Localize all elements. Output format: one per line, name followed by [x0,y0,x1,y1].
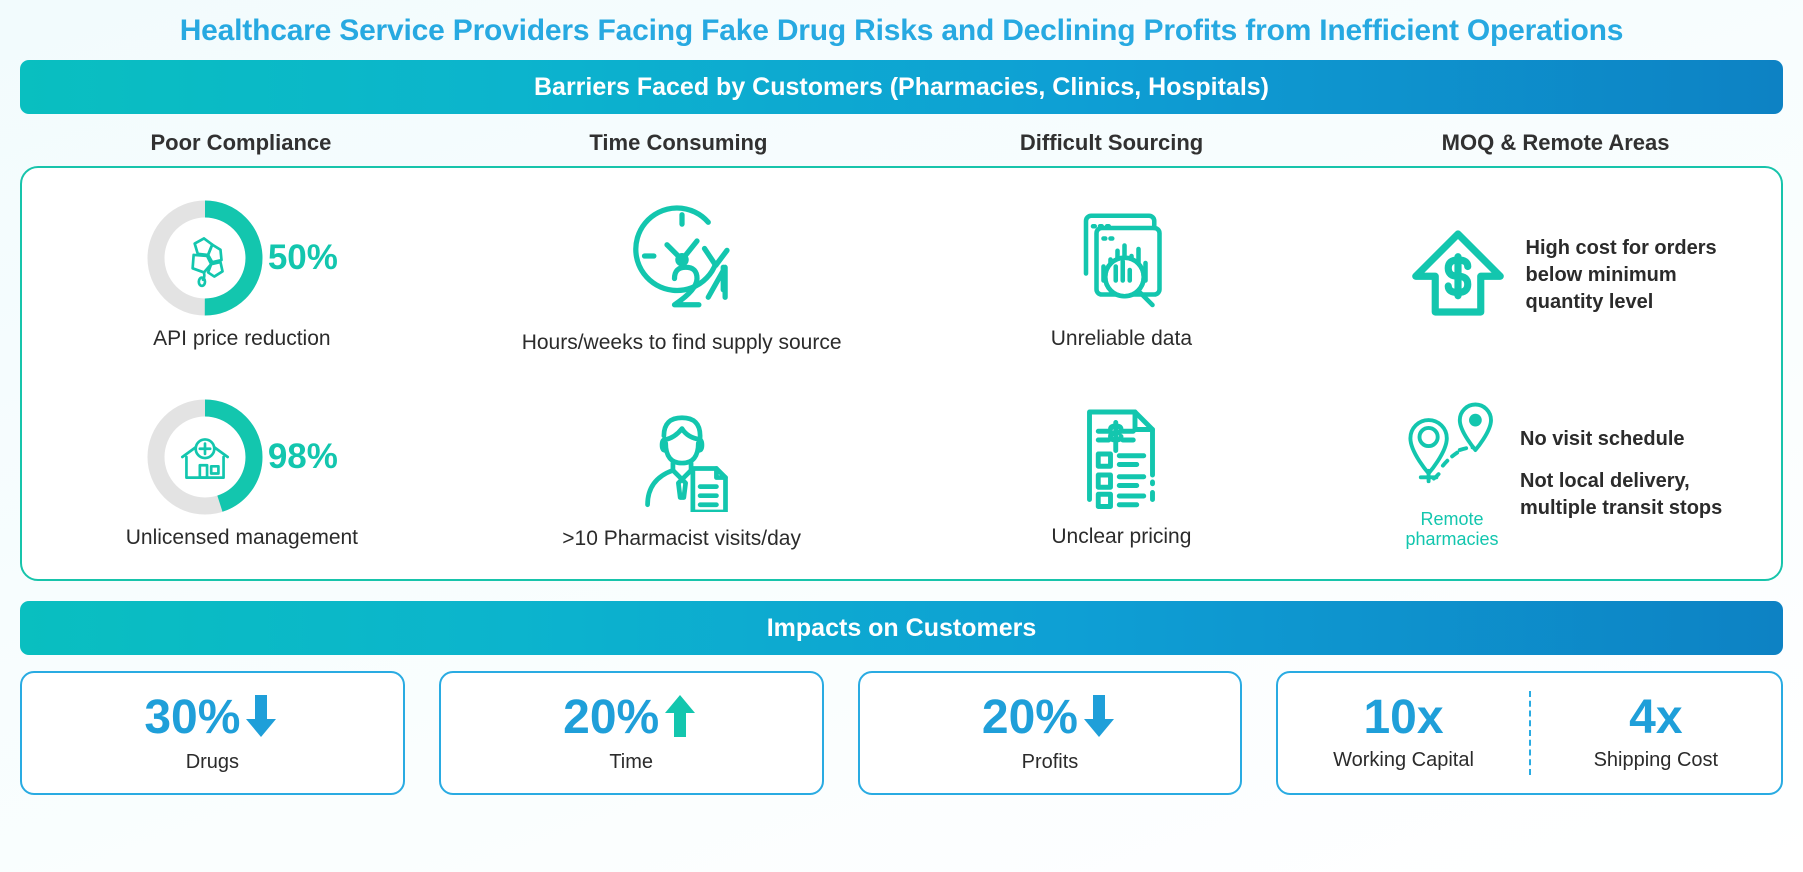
impact-subitem-working-capital: 10x Working Capital [1278,694,1528,772]
column-header-poor-compliance: Poor Compliance [20,130,462,156]
impact-value-shipping-cost: 4x [1629,694,1682,742]
data-chart-search-icon [1065,200,1177,317]
remote-pharmacies-label-line1: Remote [1405,509,1498,530]
impact-cards-row: 30% Drugs 20% Time 20% [20,671,1783,795]
impact-value-profits: 20% [982,694,1078,742]
barriers-panel: 50% API price reduction [20,166,1783,581]
impact-subitem-shipping-cost: 4x Shipping Cost [1531,694,1781,772]
barrier-item-remote-delivery: Remote pharmacies No visit schedule Not … [1341,375,1781,574]
donut-percent-98: 98% [268,437,338,477]
impact-label-profits: Profits [1022,751,1079,774]
caption-api-price-reduction: API price reduction [153,327,330,351]
moq-remote-line3: multiple transit stops [1520,495,1722,522]
moq-remote-line2: Not local delivery, [1520,468,1722,495]
moq-high-cost-line2: below minimum [1526,262,1717,289]
barrier-item-pharmacist-visits: >10 Pharmacist visits/day [462,375,902,574]
impact-card-profits[interactable]: 20% Profits [858,671,1243,795]
column-header-moq-remote-areas: MOQ & Remote Areas [1328,130,1783,156]
price-invoice-icon [1065,398,1177,515]
caption-unreliable-data: Unreliable data [1051,327,1192,351]
barrier-item-supply-source-time: Hours/weeks to find supply source [462,176,902,375]
barrier-item-api-price-reduction: 50% API price reduction [22,176,462,375]
pills-icon [172,225,238,291]
moq-high-cost-text: High cost for orders below minimum quant… [1526,235,1717,315]
impact-label-time: Time [609,751,653,774]
impact-value-time: 20% [563,694,659,742]
moq-remote-line1: No visit schedule [1520,426,1722,453]
column-header-difficult-sourcing: Difficult Sourcing [895,130,1328,156]
impact-label-working-capital: Working Capital [1333,749,1474,772]
barrier-item-unreliable-data: Unreliable data [902,176,1342,375]
dollar-up-arrow-icon [1406,221,1510,330]
impact-card-drugs[interactable]: 30% Drugs [20,671,405,795]
arrow-down-icon [242,693,280,744]
arrow-down-icon [1080,693,1118,744]
remote-pharmacies-label-line2: pharmacies [1405,529,1498,550]
column-header-time-consuming: Time Consuming [462,130,895,156]
barrier-column-poor-compliance: 50% API price reduction [22,176,462,573]
barrier-column-time-consuming: Hours/weeks to find supply source [462,176,902,573]
barriers-banner-label: Barriers Faced by Customers (Pharmacies,… [534,73,1269,102]
caption-supply-source-time: Hours/weeks to find supply source [522,331,842,355]
moq-remote-text: No visit schedule Not local delivery, mu… [1520,426,1722,522]
moq-high-cost-line1: High cost for orders [1526,235,1717,262]
caption-pharmacist-visits: >10 Pharmacist visits/day [562,527,801,551]
impacts-banner: Impacts on Customers [20,601,1783,655]
barrier-column-moq-remote-areas: High cost for orders below minimum quant… [1341,176,1781,573]
clock-24-hours-icon [622,196,742,321]
impact-card-time[interactable]: 20% Time [439,671,824,795]
donut-chart-98 [146,398,264,516]
impact-label-drugs: Drugs [186,751,239,774]
impact-card-capital-shipping[interactable]: 10x Working Capital 4x Shipping Cost [1276,671,1783,795]
impact-value-working-capital: 10x [1363,694,1443,742]
impact-value-drugs: 30% [144,694,240,742]
barrier-item-high-cost-moq: High cost for orders below minimum quant… [1341,176,1781,375]
barrier-column-headers: Poor Compliance Time Consuming Difficult… [20,130,1783,156]
donut-percent-50: 50% [268,238,338,278]
barrier-column-difficult-sourcing: Unreliable data Unc [902,176,1342,573]
impacts-banner-label: Impacts on Customers [767,614,1037,643]
caption-unlicensed-management: Unlicensed management [126,526,358,550]
moq-high-cost-line3: quantity level [1526,289,1717,316]
barriers-banner: Barriers Faced by Customers (Pharmacies,… [20,60,1783,114]
clinic-building-icon [172,424,238,490]
remote-pharmacy-map-pins-icon [1400,398,1504,507]
remote-pharmacies-label: Remote pharmacies [1405,509,1498,550]
impact-label-shipping-cost: Shipping Cost [1594,749,1719,772]
page-title: Healthcare Service Providers Facing Fake… [0,0,1803,60]
arrow-up-icon [661,693,699,744]
pharmacist-person-icon [624,396,740,517]
barrier-item-unlicensed-management: 98% Unlicensed management [22,375,462,574]
caption-unclear-pricing: Unclear pricing [1051,525,1191,549]
donut-chart-50 [146,199,264,317]
barrier-item-unclear-pricing: Unclear pricing [902,375,1342,574]
